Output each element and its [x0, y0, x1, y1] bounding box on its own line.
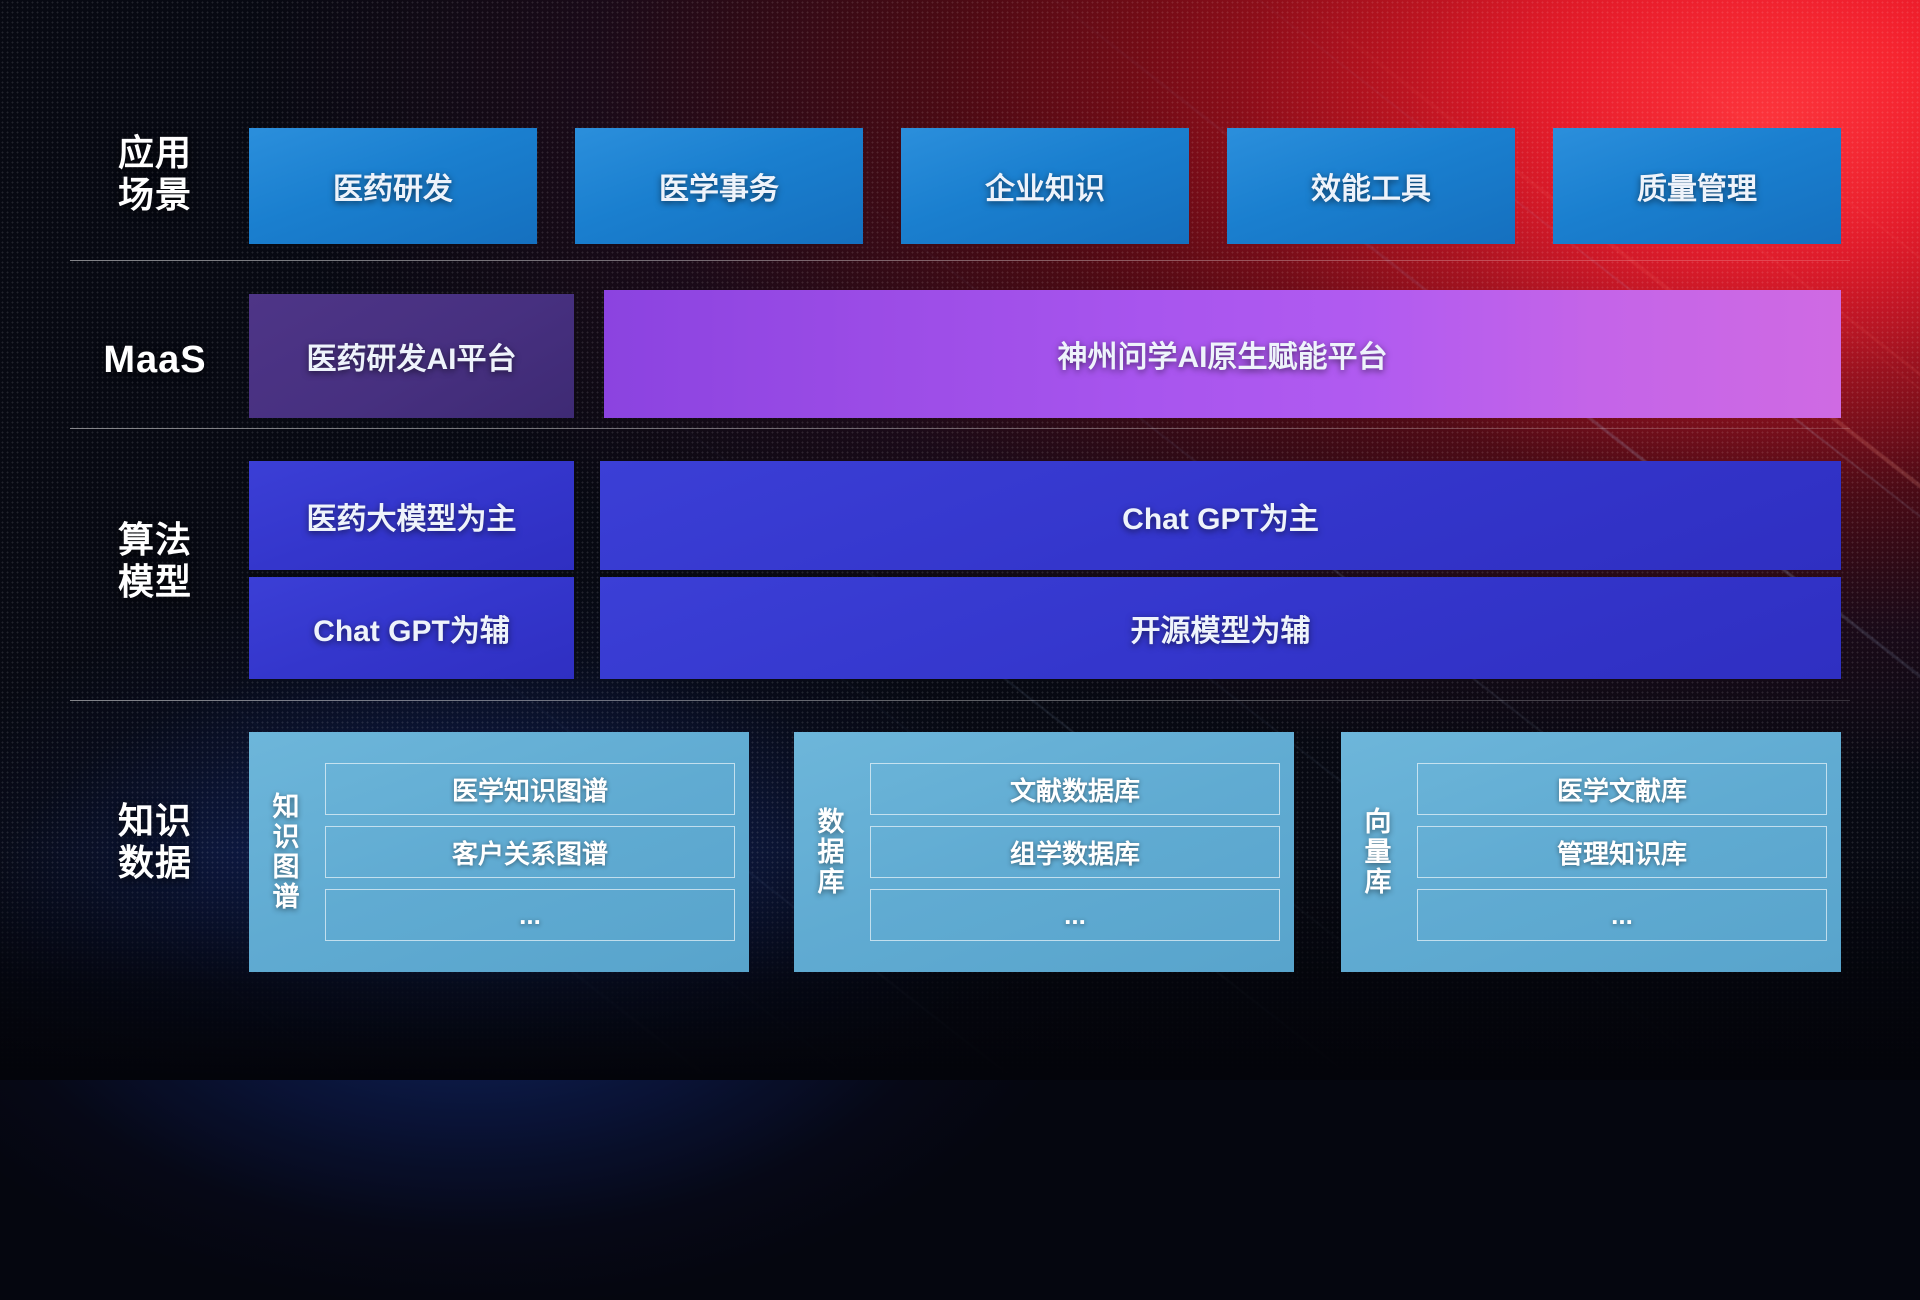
- row-divider-2: [70, 428, 1850, 429]
- knowledge-item-3-2[interactable]: 管理知识库: [1417, 826, 1827, 878]
- knowledge-item-3-3[interactable]: ...: [1417, 889, 1827, 941]
- knowledge-group-title-1: 知识图谱: [259, 792, 313, 913]
- knowledge-group-items-2: 文献数据库 组学数据库 ...: [870, 763, 1280, 941]
- knowledge-group-items-3: 医学文献库 管理知识库 ...: [1417, 763, 1827, 941]
- row-label-algo-line-2: 模型: [85, 561, 225, 603]
- knowledge-group-title-char: 数: [804, 807, 858, 837]
- knowledge-group-title-char: 库: [804, 867, 858, 897]
- app-scenario-card-5[interactable]: 质量管理: [1553, 128, 1841, 244]
- app-scenario-card-4[interactable]: 效能工具: [1227, 128, 1515, 244]
- knowledge-group-title-2: 数据库: [804, 807, 858, 898]
- row-label-knowledge-data: 知识 数据: [85, 800, 225, 885]
- knowledge-group-title-char: 图: [259, 852, 313, 882]
- knowledge-group-title-char: 据: [804, 837, 858, 867]
- knowledge-group-knowledge-graph[interactable]: 知识图谱 医学知识图谱 客户关系图谱 ...: [249, 732, 749, 972]
- knowledge-group-title-char: 库: [1351, 867, 1405, 897]
- knowledge-group-title-char: 量: [1351, 837, 1405, 867]
- row-label-knowledge-line-2: 数据: [85, 842, 225, 884]
- knowledge-item-2-2[interactable]: 组学数据库: [870, 826, 1280, 878]
- row-label-knowledge-line-1: 知识: [85, 800, 225, 842]
- algo-card-opensource-secondary[interactable]: 开源模型为辅: [600, 577, 1841, 679]
- algo-card-pharma-llm-primary[interactable]: 医药大模型为主: [249, 461, 574, 570]
- row-label-line-2: 场景: [85, 174, 225, 216]
- algo-card-chatgpt-primary[interactable]: Chat GPT为主: [600, 461, 1841, 570]
- knowledge-group-items-1: 医学知识图谱 客户关系图谱 ...: [325, 763, 735, 941]
- knowledge-group-title-char: 谱: [259, 882, 313, 912]
- row-label-algo-line-1: 算法: [85, 519, 225, 561]
- row-divider-3: [70, 700, 1850, 701]
- algo-card-chatgpt-secondary[interactable]: Chat GPT为辅: [249, 577, 574, 679]
- row-divider-1: [70, 260, 1850, 261]
- knowledge-item-3-1[interactable]: 医学文献库: [1417, 763, 1827, 815]
- knowledge-group-title-char: 识: [259, 822, 313, 852]
- row-label-maas-text: MaaS: [85, 338, 225, 383]
- knowledge-group-title-char: 向: [1351, 807, 1405, 837]
- app-scenario-card-1[interactable]: 医药研发: [249, 128, 537, 244]
- app-scenario-card-2[interactable]: 医学事务: [575, 128, 863, 244]
- row-label-maas: MaaS: [85, 338, 225, 383]
- app-scenario-card-3[interactable]: 企业知识: [901, 128, 1189, 244]
- knowledge-group-title-3: 向量库: [1351, 807, 1405, 898]
- row-label-algorithm-model: 算法 模型: [85, 519, 225, 604]
- knowledge-item-1-1[interactable]: 医学知识图谱: [325, 763, 735, 815]
- knowledge-item-1-3[interactable]: ...: [325, 889, 735, 941]
- knowledge-group-database[interactable]: 数据库 文献数据库 组学数据库 ...: [794, 732, 1294, 972]
- knowledge-item-2-3[interactable]: ...: [870, 889, 1280, 941]
- knowledge-item-1-2[interactable]: 客户关系图谱: [325, 826, 735, 878]
- maas-card-shenzhou-wenxue-platform[interactable]: 神州问学AI原生赋能平台: [604, 290, 1841, 418]
- row-label-line-1: 应用: [85, 132, 225, 174]
- knowledge-item-2-1[interactable]: 文献数据库: [870, 763, 1280, 815]
- maas-card-pharma-ai-platform[interactable]: 医药研发AI平台: [249, 294, 574, 418]
- knowledge-group-title-char: 知: [259, 792, 313, 822]
- row-label-application-scenarios: 应用 场景: [85, 132, 225, 217]
- knowledge-group-vector-store[interactable]: 向量库 医学文献库 管理知识库 ...: [1341, 732, 1841, 972]
- architecture-diagram-canvas: 应用 场景 医药研发 医学事务 企业知识 效能工具 质量管理 MaaS 医药研发…: [0, 0, 1920, 1080]
